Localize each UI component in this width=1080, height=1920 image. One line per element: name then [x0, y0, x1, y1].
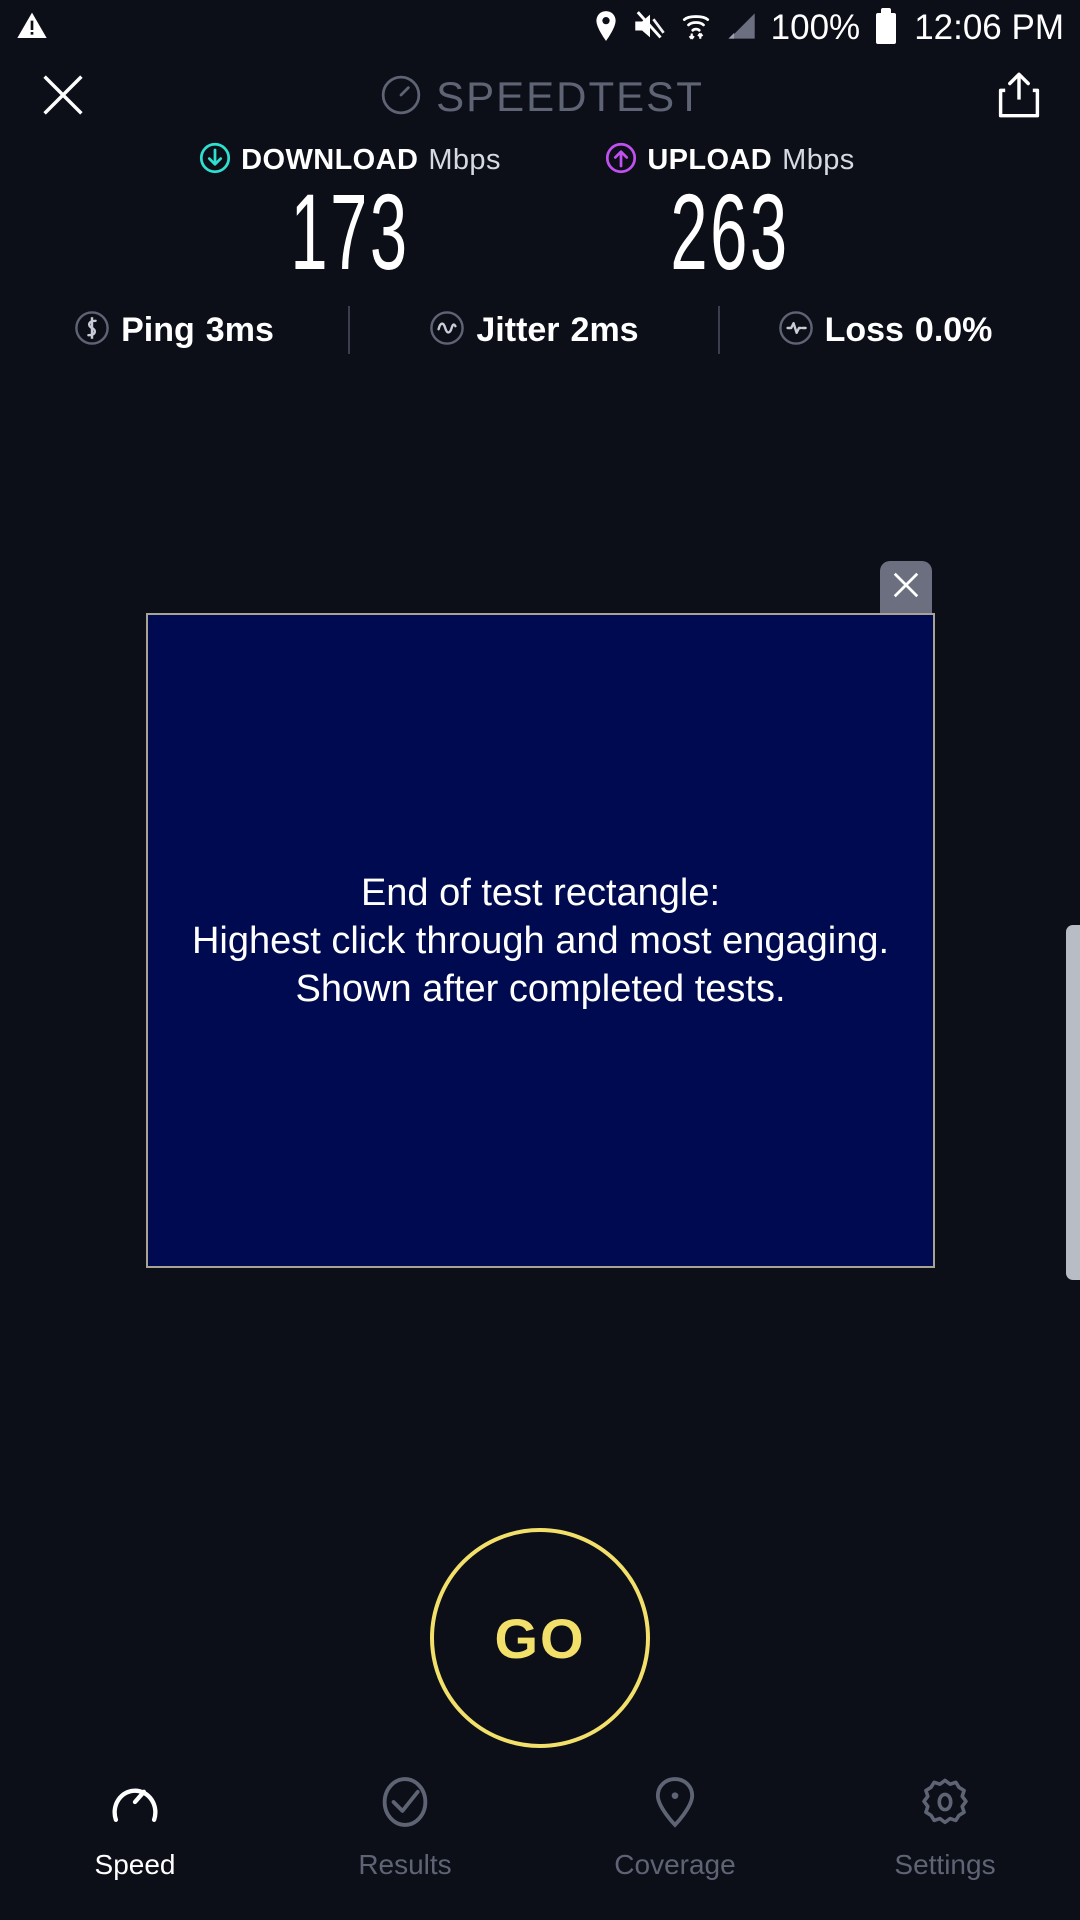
close-icon[interactable] [40, 72, 86, 123]
go-button[interactable]: GO [430, 1528, 650, 1748]
results-summary: DOWNLOAD Mbps 173 UPLOAD Mbps 263 [0, 140, 1080, 288]
jitter-icon [429, 310, 465, 351]
share-icon[interactable] [998, 72, 1040, 123]
nav-label-speed: Speed [95, 1849, 176, 1881]
ping-label: Ping [121, 311, 195, 350]
check-circle-icon [377, 1774, 433, 1835]
loss-metric: Loss 0.0% [720, 310, 1050, 351]
ad-text: End of test rectangle: Highest click thr… [192, 869, 889, 1013]
upload-metric: UPLOAD Mbps 263 [540, 140, 920, 288]
gear-icon [917, 1774, 973, 1835]
app-screen: 100% 12:06 PM SPEEDTEST [0, 0, 1080, 1920]
go-button-label: GO [494, 1606, 585, 1671]
download-value: 173 [232, 176, 468, 288]
download-arrow-icon [199, 142, 231, 179]
nav-item-speed[interactable]: Speed [0, 1774, 270, 1881]
loss-label: Loss [825, 311, 904, 350]
nav-label-results: Results [358, 1849, 451, 1881]
page-title: SPEEDTEST [436, 73, 704, 121]
vertical-scrollbar[interactable] [1066, 925, 1080, 1280]
upload-unit: Mbps [782, 144, 855, 177]
bottom-navigation: Speed Results Coverage [0, 1760, 1080, 1920]
mute-icon [633, 10, 667, 47]
cellular-signal-icon [725, 11, 757, 46]
nav-item-results[interactable]: Results [270, 1774, 540, 1881]
status-bar-clock: 12:06 PM [914, 8, 1064, 48]
status-bar: 100% 12:06 PM [0, 0, 1080, 56]
ad-close-button[interactable] [880, 561, 932, 613]
jitter-label: Jitter [476, 311, 559, 350]
loss-icon [778, 310, 814, 351]
ping-jitter-loss-row: Ping 3ms Jitter 2ms Loss [0, 300, 1080, 360]
status-bar-left [16, 10, 48, 47]
nav-label-settings: Settings [894, 1849, 995, 1881]
battery-percent-label: 100% [771, 8, 861, 48]
upload-arrow-icon [605, 142, 637, 179]
nav-label-coverage: Coverage [614, 1849, 735, 1881]
app-header: SPEEDTEST [0, 56, 1080, 138]
wifi-icon [681, 10, 711, 47]
loss-value: 0.0% [915, 311, 993, 350]
warning-triangle-icon [16, 10, 48, 47]
speed-row: DOWNLOAD Mbps 173 UPLOAD Mbps 263 [0, 140, 1080, 288]
location-pin-icon [647, 1774, 703, 1835]
battery-full-icon [876, 13, 896, 44]
ping-icon [74, 310, 110, 351]
ping-metric: Ping 3ms [0, 310, 348, 351]
status-bar-right: 100% 12:06 PM [593, 8, 1064, 48]
nav-item-coverage[interactable]: Coverage [540, 1774, 810, 1881]
brand: SPEEDTEST [380, 73, 704, 121]
speedometer-icon [380, 74, 422, 121]
location-pin-icon [593, 10, 619, 47]
upload-value: 263 [612, 176, 848, 288]
jitter-metric: Jitter 2ms [350, 310, 718, 351]
speedometer-icon [107, 1774, 163, 1835]
ping-value: 3ms [206, 311, 274, 350]
ad-close-icon [891, 570, 921, 605]
advertisement-banner[interactable]: End of test rectangle: Highest click thr… [146, 613, 935, 1268]
jitter-value: 2ms [571, 311, 639, 350]
download-metric: DOWNLOAD Mbps 173 [160, 140, 540, 288]
nav-item-settings[interactable]: Settings [810, 1774, 1080, 1881]
download-unit: Mbps [428, 144, 501, 177]
